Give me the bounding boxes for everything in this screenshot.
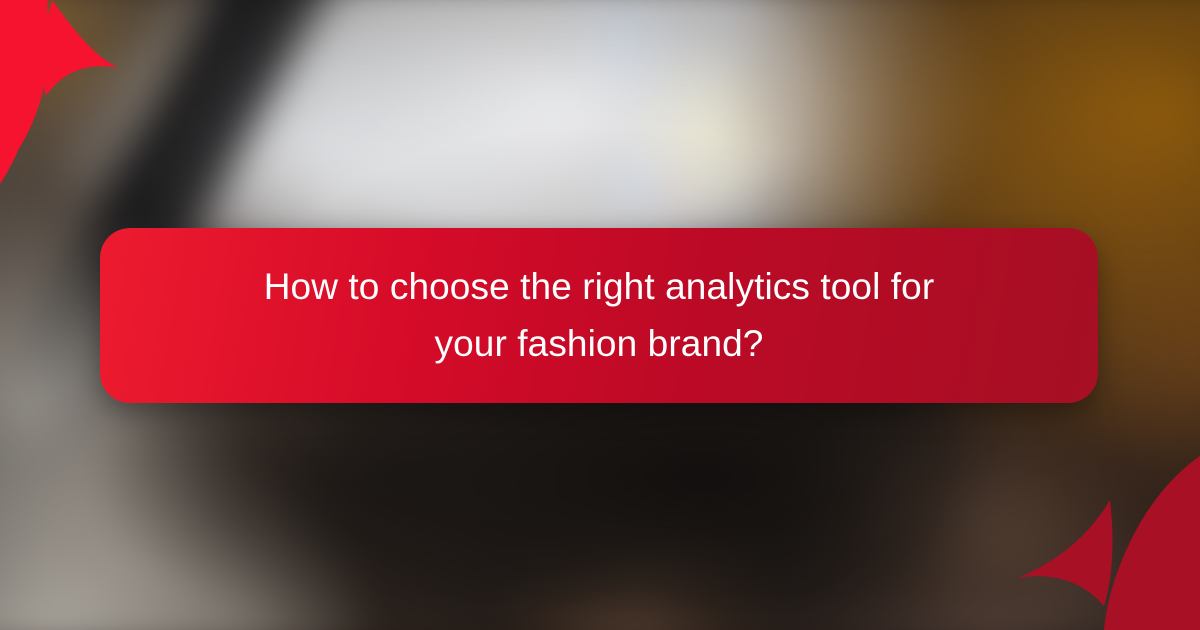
- social-share-card: How to choose the right analytics tool f…: [0, 0, 1200, 630]
- headline-banner: How to choose the right analytics tool f…: [100, 228, 1098, 403]
- page-title: How to choose the right analytics tool f…: [239, 259, 959, 371]
